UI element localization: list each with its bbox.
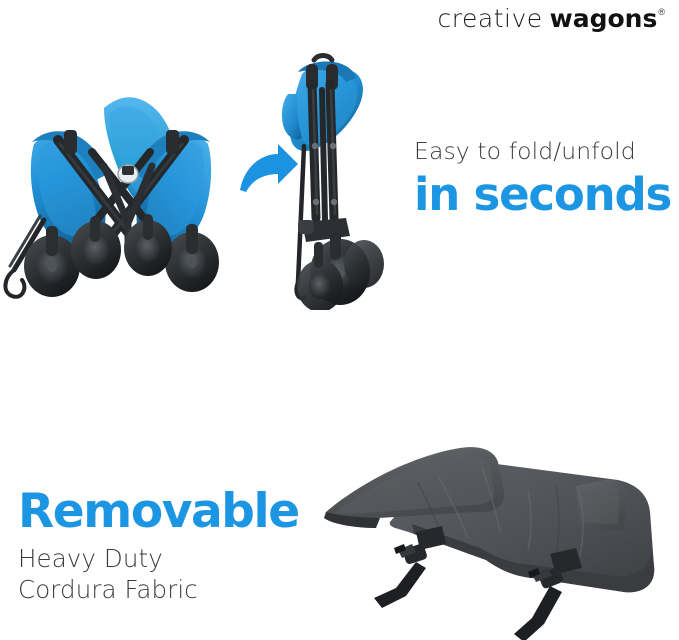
brand-name-bold: wagons: [550, 4, 658, 33]
fold-feature-emphasis: in seconds: [414, 171, 676, 218]
fabric-feature-emphasis: Removable: [18, 488, 328, 536]
fold-feature-kicker: Easy to fold/unfold: [414, 138, 676, 165]
registered-trademark-symbol: ®: [658, 7, 665, 17]
brand-logo: creative wagons ®: [438, 4, 665, 33]
fabric-liner-image: [318, 420, 679, 640]
fabric-feature-text: Removable Heavy Duty Cordura Fabric: [18, 488, 328, 606]
wagon-unfolded-image: [0, 48, 246, 306]
fold-feature-text: Easy to fold/unfold in seconds: [414, 138, 676, 218]
brand-name-light: creative: [438, 4, 543, 33]
fabric-feature-subline-2: Cordura Fabric: [18, 574, 328, 605]
wagon-folded-image: [268, 50, 394, 310]
fabric-feature-subline-1: Heavy Duty: [18, 543, 328, 574]
